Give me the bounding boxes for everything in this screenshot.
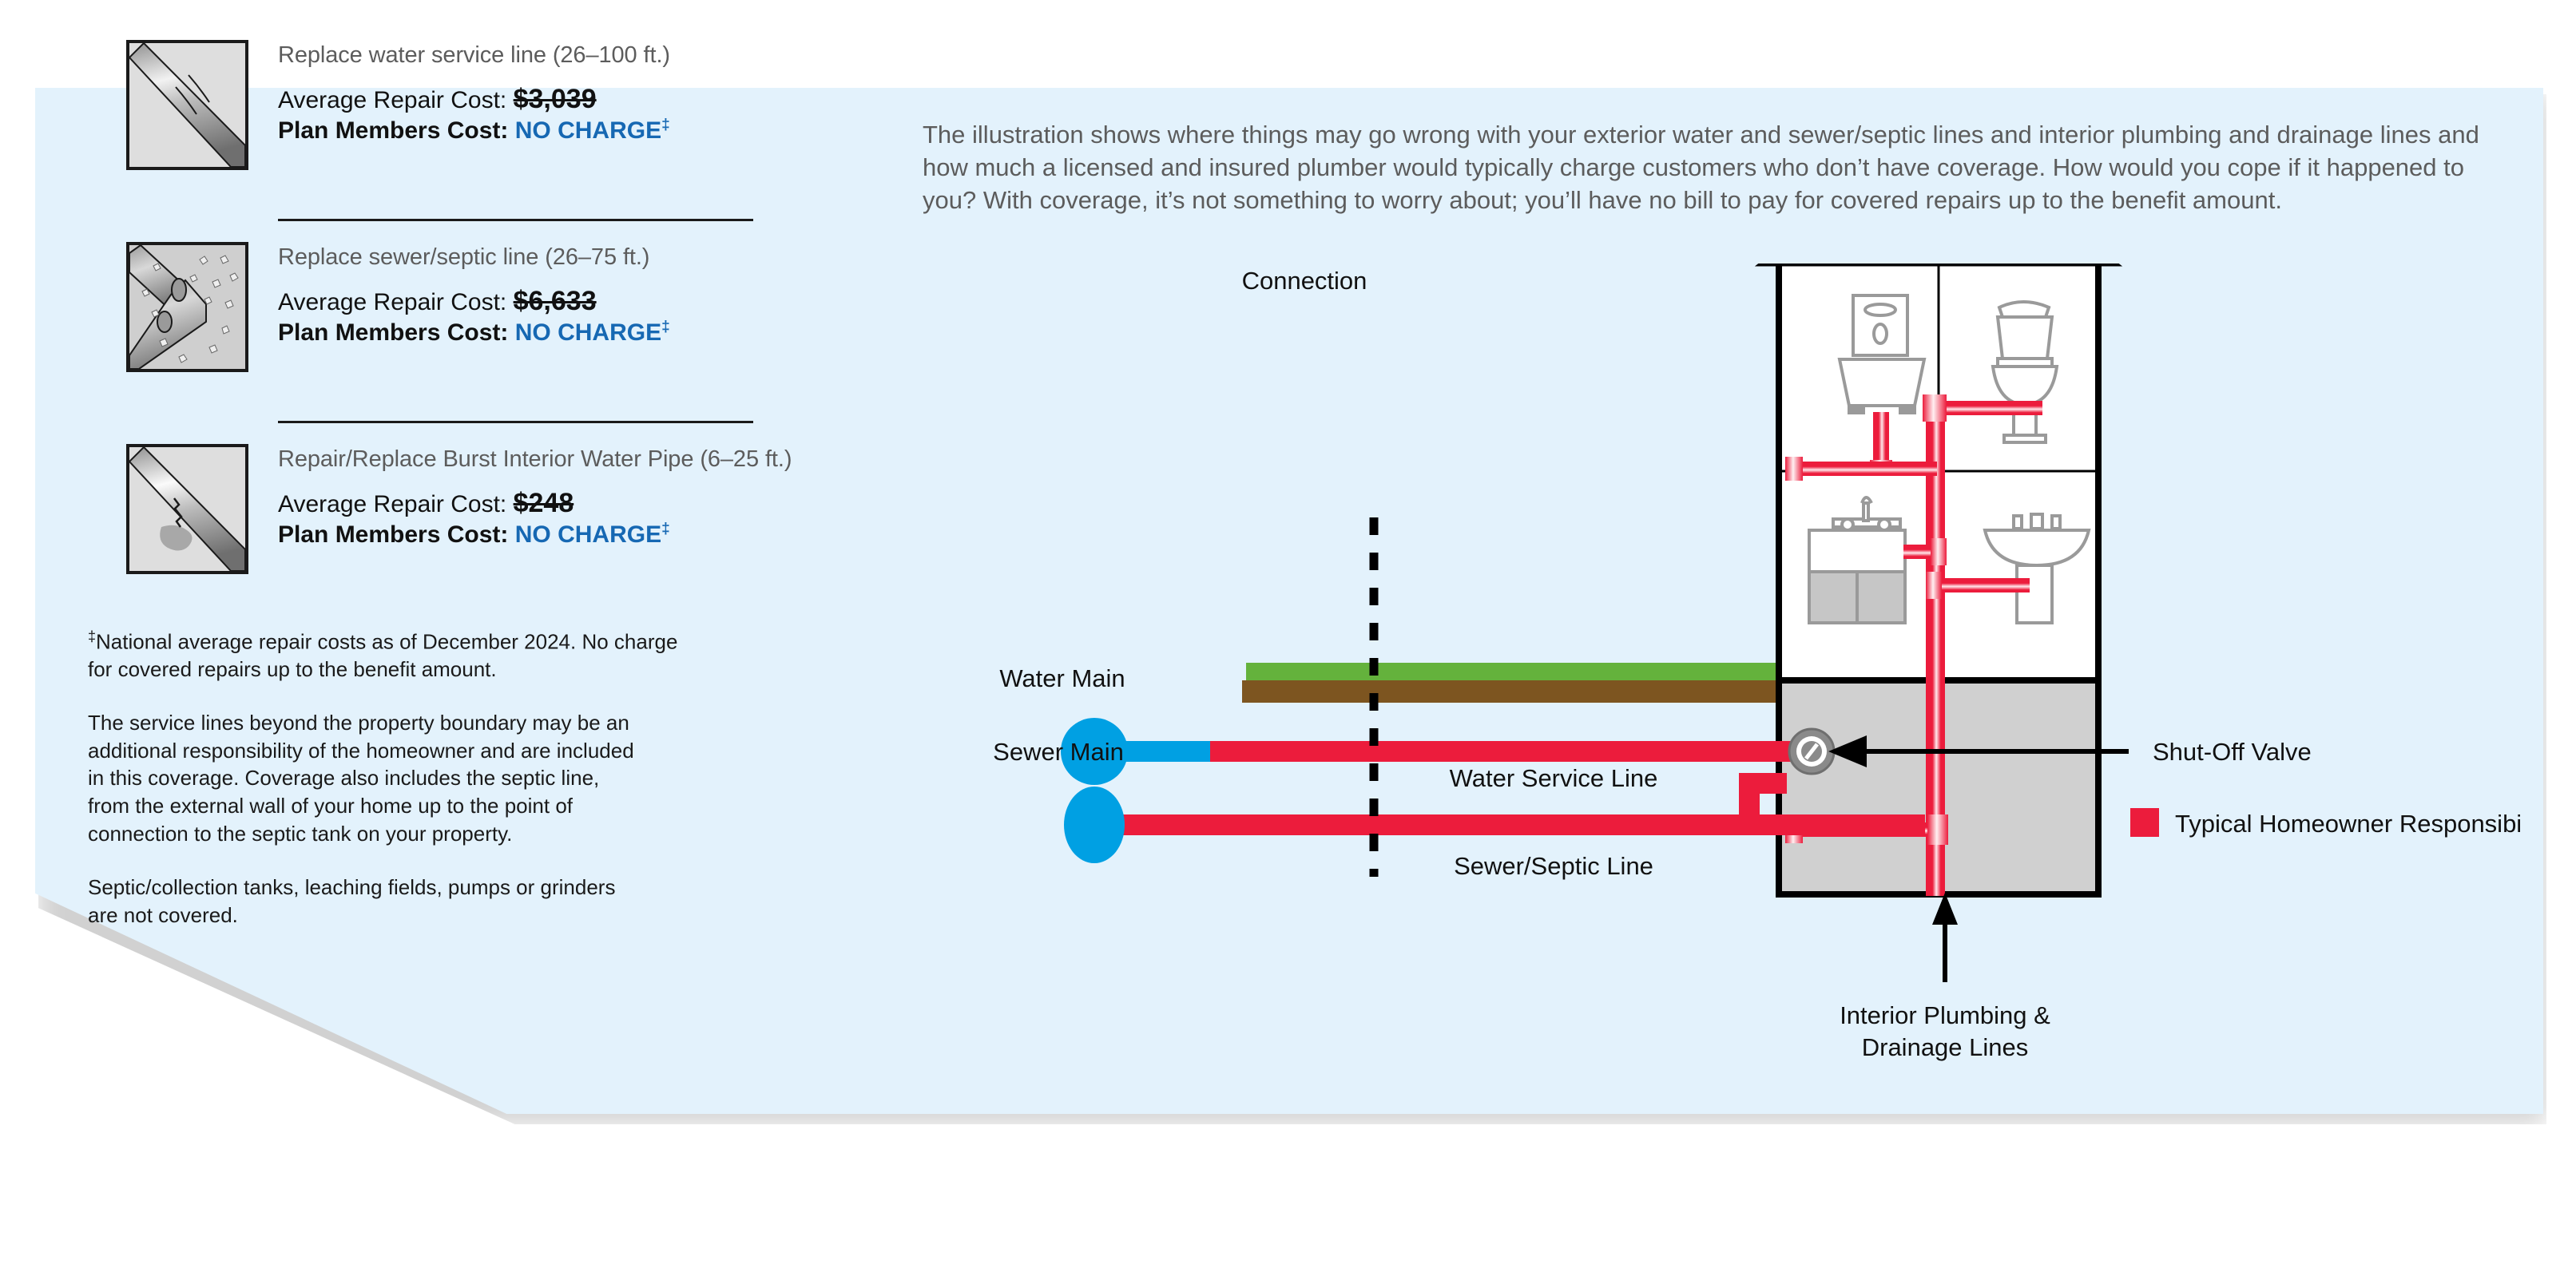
costs-footnote: ‡National average repair costs as of Dec… bbox=[88, 628, 679, 684]
sewer-septic-line-pipe bbox=[1094, 814, 1925, 835]
member-cost-line: Plan Members Cost: NO CHARGE‡ bbox=[278, 319, 895, 347]
cost-item-title: Repair/Replace Burst Interior Water Pipe… bbox=[278, 446, 895, 474]
member-cost-value: NO CHARGE bbox=[515, 117, 661, 144]
water-service-line-pipe bbox=[1206, 741, 1805, 762]
legend-label: Typical Homeowner Responsibility bbox=[2175, 810, 2520, 838]
member-cost-value: NO CHARGE bbox=[515, 521, 661, 548]
member-cost-label: Plan Members Cost: bbox=[278, 319, 508, 346]
house-plumbing-diagram: Utility Connection Water Main Sewer Main… bbox=[923, 264, 2520, 1062]
interior-plumbing-label-line1: Interior Plumbing & bbox=[1840, 1001, 2050, 1029]
utility-connection-label-line2: Connection bbox=[1242, 267, 1367, 295]
footnote-marker: ‡ bbox=[661, 117, 670, 133]
average-cost-line: Average Repair Cost: $3,039 bbox=[278, 83, 895, 115]
member-cost-label: Plan Members Cost: bbox=[278, 521, 508, 548]
average-cost-line: Average Repair Cost: $6,633 bbox=[278, 285, 895, 317]
member-cost-line: Plan Members Cost: NO CHARGE‡ bbox=[278, 521, 895, 549]
soil-strip bbox=[1242, 680, 1781, 703]
average-cost-line: Average Repair Cost: $248 bbox=[278, 487, 895, 519]
footnote-marker: ‡ bbox=[88, 628, 96, 644]
member-cost-line: Plan Members Cost: NO CHARGE‡ bbox=[278, 117, 895, 145]
average-cost-amount: $3,039 bbox=[514, 84, 597, 114]
item-divider bbox=[278, 219, 753, 221]
legend-swatch bbox=[2130, 808, 2159, 837]
member-cost-label: Plan Members Cost: bbox=[278, 117, 508, 144]
shut-off-valve-label: Shut-Off Valve bbox=[2153, 738, 2312, 766]
shut-off-valve-icon bbox=[1789, 729, 1834, 774]
costs-footnote-text: National average repair costs as of Dece… bbox=[88, 630, 677, 682]
cost-list: Replace water service line (26–100 ft.) … bbox=[88, 40, 895, 929]
average-cost-label: Average Repair Cost: bbox=[278, 289, 506, 315]
footnote-marker: ‡ bbox=[661, 319, 670, 335]
grass-strip bbox=[1246, 663, 1781, 680]
cost-item-title: Replace water service line (26–100 ft.) bbox=[278, 42, 895, 69]
water-main-label: Water Main bbox=[999, 664, 1125, 692]
average-cost-amount: $248 bbox=[514, 488, 574, 518]
average-cost-amount: $6,633 bbox=[514, 286, 597, 316]
exclusion-note: Septic/collection tanks, leaching fields… bbox=[88, 874, 647, 929]
cost-item: Repair/Replace Burst Interior Water Pipe… bbox=[88, 444, 895, 604]
cost-item-text: Repair/Replace Burst Interior Water Pipe… bbox=[278, 444, 895, 549]
member-cost-value: NO CHARGE bbox=[515, 319, 661, 346]
cost-item-text: Replace sewer/septic line (26–75 ft.) Av… bbox=[278, 242, 895, 347]
water-service-line-label: Water Service Line bbox=[1450, 764, 1658, 792]
intro-paragraph: The illustration shows where things may … bbox=[923, 118, 2508, 217]
cost-item: Replace sewer/septic line (26–75 ft.) Av… bbox=[88, 242, 895, 402]
average-cost-label: Average Repair Cost: bbox=[278, 87, 506, 113]
cost-item: Replace water service line (26–100 ft.) … bbox=[88, 40, 895, 200]
item-divider bbox=[278, 421, 753, 423]
sewer-main-label: Sewer Main bbox=[993, 738, 1124, 766]
sewer-main-node bbox=[1064, 787, 1125, 863]
infographic-page: Replace water service line (26–100 ft.) … bbox=[0, 0, 2576, 1288]
cost-item-text: Replace water service line (26–100 ft.) … bbox=[278, 40, 895, 145]
cost-item-title: Replace sewer/septic line (26–75 ft.) bbox=[278, 244, 895, 271]
average-cost-label: Average Repair Cost: bbox=[278, 491, 506, 517]
straight-pipe-icon bbox=[126, 40, 248, 170]
coverage-note: The service lines beyond the property bo… bbox=[88, 709, 639, 848]
burst-pipe-leak-icon bbox=[126, 444, 248, 574]
buried-sewer-pipe-icon bbox=[126, 242, 248, 372]
interior-plumbing-label-line2: Drainage Lines bbox=[1862, 1033, 2029, 1061]
sewer-septic-line-label: Sewer/Septic Line bbox=[1454, 852, 1653, 880]
footnote-marker: ‡ bbox=[661, 521, 670, 537]
